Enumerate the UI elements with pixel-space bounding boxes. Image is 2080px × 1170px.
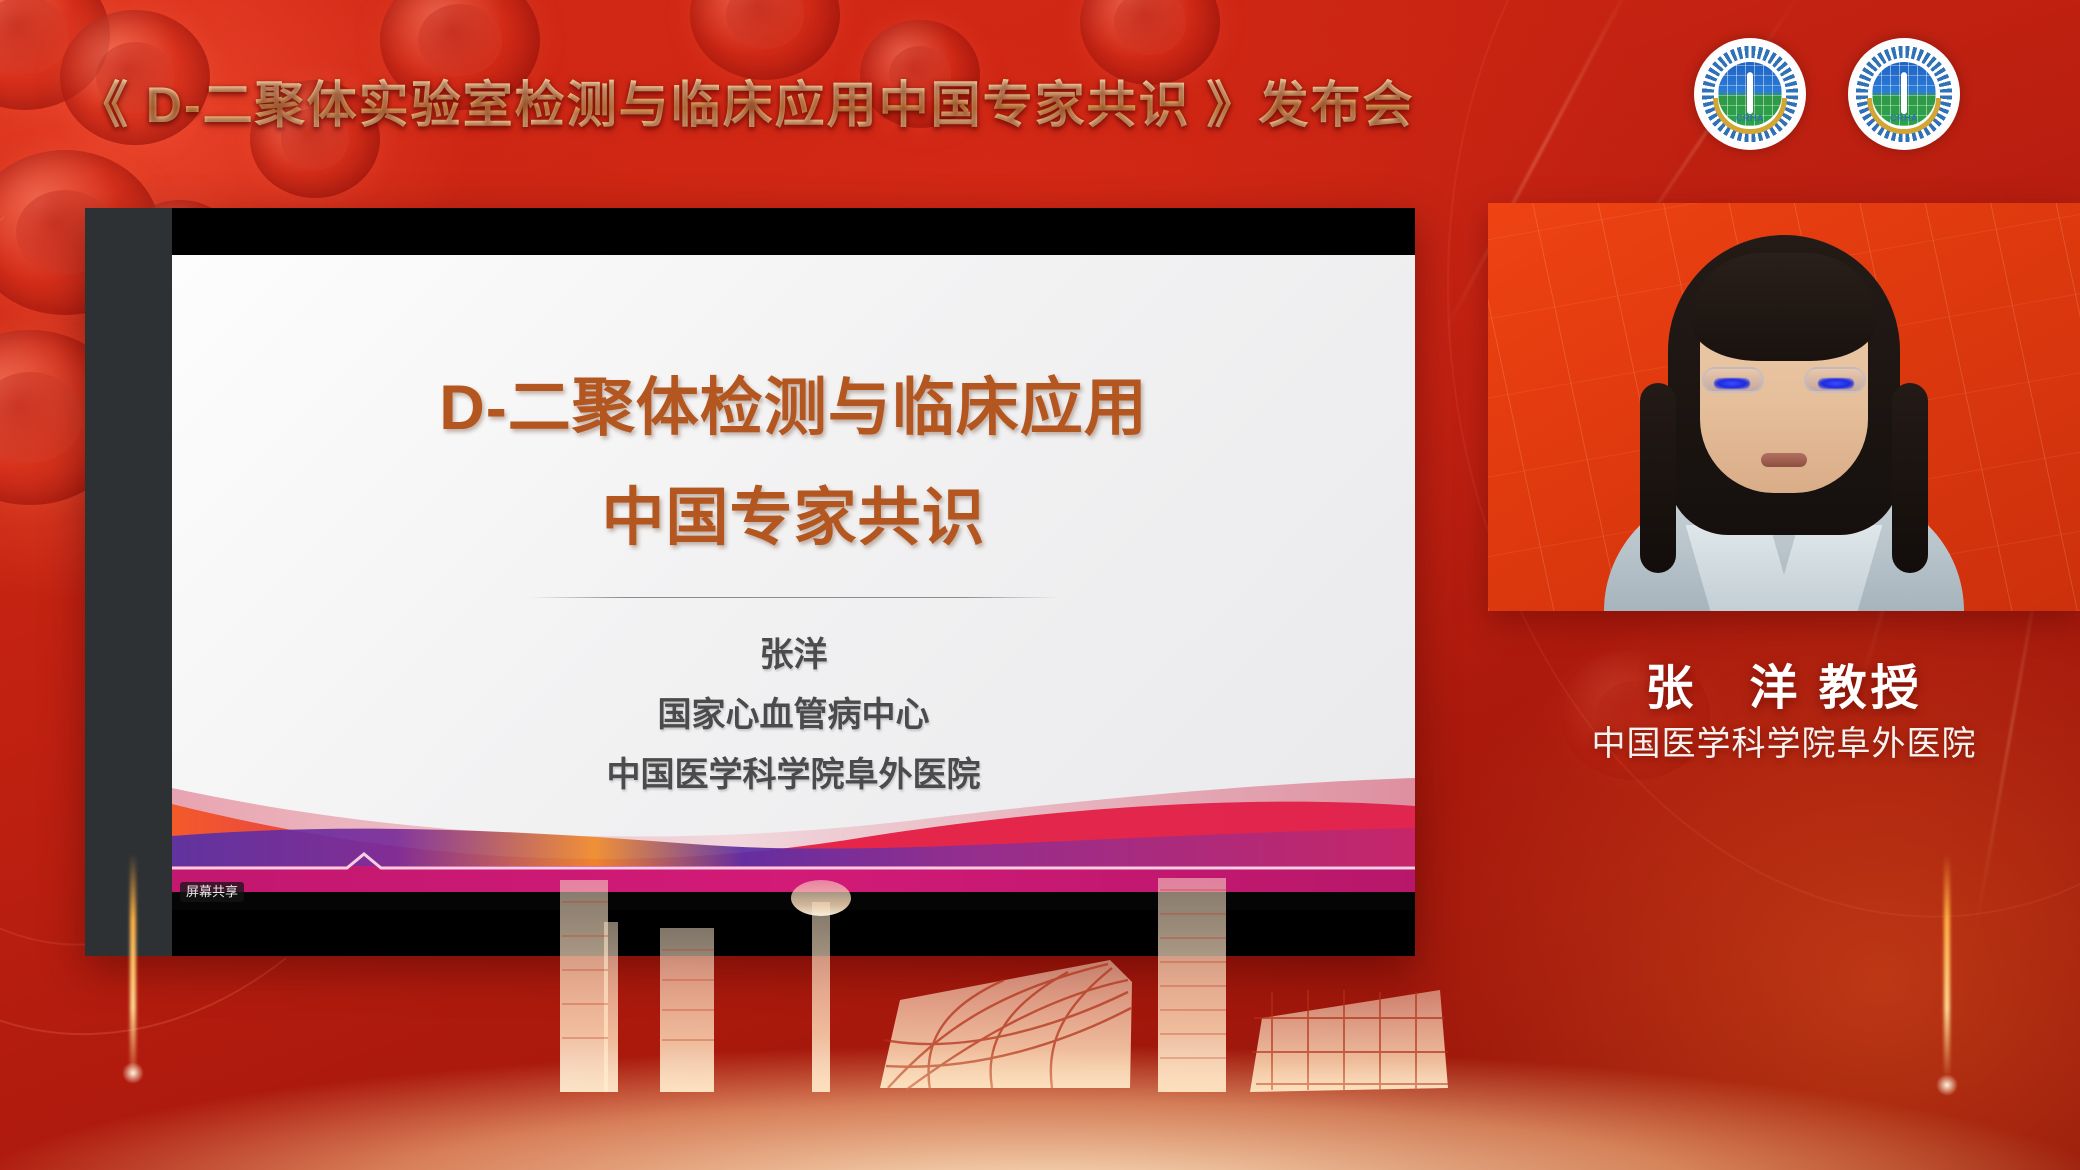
crha-logo-icon: CRHA <box>1694 38 1806 150</box>
slide-title-line-1: D-二聚体检测与临床应用 <box>172 357 1415 448</box>
presentation-slide: D-二聚体检测与临床应用 中国专家共识 张洋 国家心血管病中心 中国医学科学院阜… <box>172 255 1415 910</box>
slide-title-line-2: 中国专家共识 <box>172 467 1415 558</box>
glasses-glare-right <box>1818 378 1854 389</box>
screen-share-window[interactable]: D-二聚体检测与临床应用 中国专家共识 张洋 国家心血管病中心 中国医学科学院阜… <box>85 208 1415 956</box>
speaker-organization: 中国医学科学院阜外医院 <box>1488 716 2080 765</box>
speaker-mouth <box>1761 453 1807 467</box>
organizer-logos: CRHA CRHA <box>1694 38 1960 150</box>
light-pillar-right <box>1944 854 1950 1074</box>
light-pillar-cap-left <box>122 1062 144 1084</box>
speaker-glasses-icon <box>1700 367 1868 397</box>
broadcast-stage: 《 D-二聚体实验室检测与临床应用中国专家共识 》发布会 CRHA CRHA D… <box>0 0 2080 1170</box>
slide-author-name: 张洋 <box>172 627 1415 676</box>
logo-acronym: CRHA <box>1848 113 1960 123</box>
slide-divider <box>529 597 1059 598</box>
stage-floor-glow <box>0 995 2080 1170</box>
slide-organization-line-1: 国家心血管病中心 <box>172 687 1415 736</box>
crha-logo-icon-2: CRHA <box>1848 38 1960 150</box>
logo-acronym: CRHA <box>1694 113 1806 123</box>
glasses-glare-left <box>1714 378 1750 389</box>
screen-share-badge: 屏幕共享 <box>180 882 244 902</box>
speaker-fringe <box>1691 253 1877 361</box>
speaker-braid-left <box>1640 383 1676 573</box>
page-title: 《 D-二聚体实验室检测与临床应用中国专家共识 》发布会 <box>78 75 1498 135</box>
light-pillar-left <box>130 854 136 1074</box>
speaker-webcam-video[interactable] <box>1488 203 2080 611</box>
light-pillar-cap-right <box>1936 1074 1958 1096</box>
speaker-name: 张 洋 教授 <box>1488 648 2080 718</box>
slide-decorative-wave <box>172 770 1415 910</box>
speaker-braid-right <box>1892 383 1928 573</box>
